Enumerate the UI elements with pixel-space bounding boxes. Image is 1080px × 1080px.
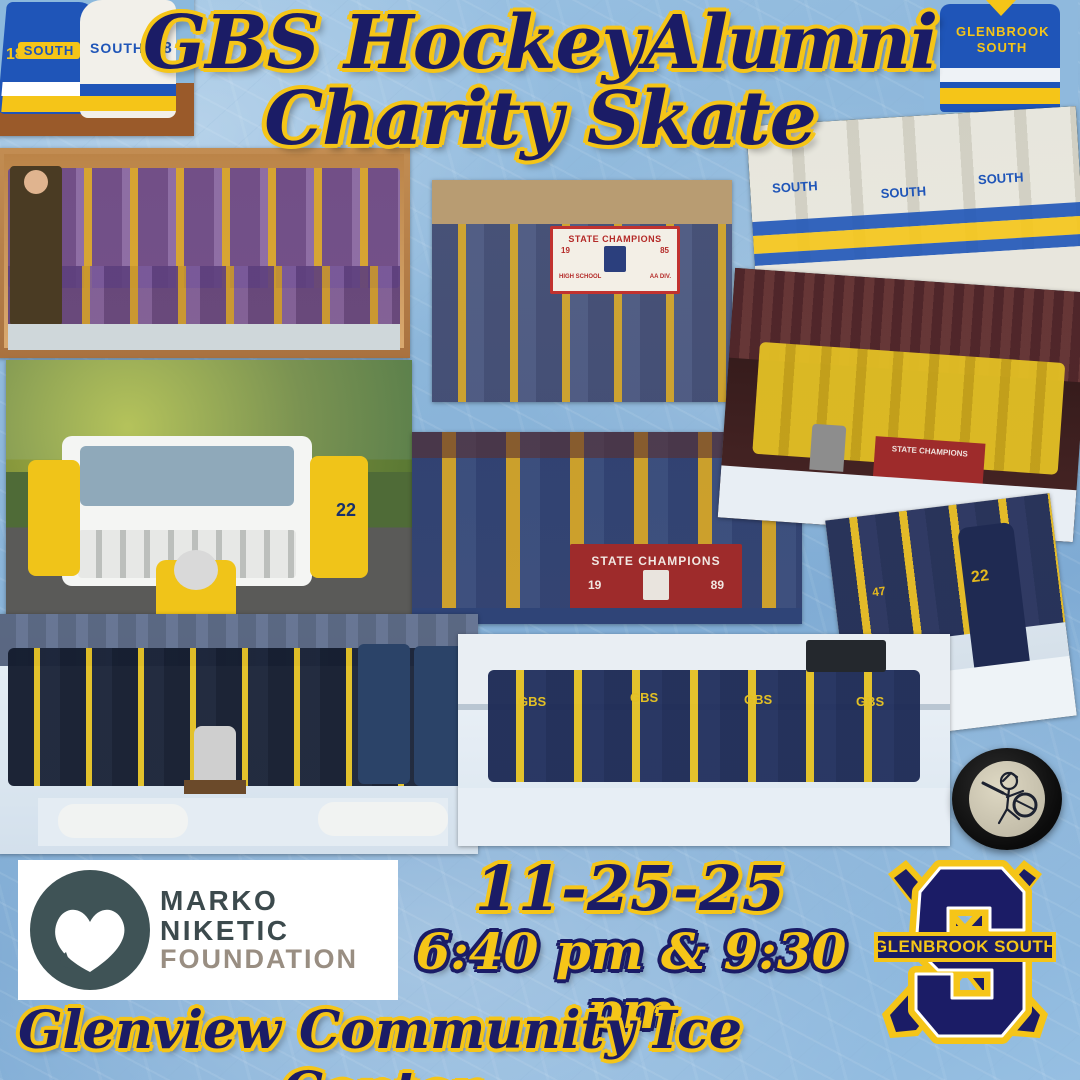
poster-canvas: SOUTH SOUTH 18 18 GLENBROOKSOUTH	[0, 0, 1080, 1080]
sponsor-name-line1: MARKO	[160, 886, 358, 916]
page-title-line2: Charity Skate	[0, 84, 1080, 155]
photo-state-champs-1985: STATE CHAMPIONS 1985 HIGH SCHOOLAA DIV.	[432, 180, 732, 402]
sponsor-name: MARKO NIKETIC FOUNDATION	[160, 886, 358, 974]
sponsor-logo-card: MARKO NIKETIC FOUNDATION	[18, 860, 398, 1000]
heart-in-circle-icon	[30, 870, 150, 990]
sponsor-name-line2: NIKETIC	[160, 916, 358, 946]
school-banner-text: GLENBROOK SOUTH	[874, 937, 1056, 956]
sponsor-name-line3: FOUNDATION	[160, 945, 358, 974]
event-venue: Glenview Community Ice Center	[0, 1000, 760, 1080]
glenbrook-south-logo: GLENBROOK SOUTH	[862, 852, 1068, 1052]
titan-mascot-icon	[969, 761, 1045, 837]
hockey-puck-mascot	[952, 748, 1062, 850]
photo-titans-trophy-team	[0, 614, 478, 854]
page-title-line1: GBS HockeyAlumni	[0, 8, 1080, 79]
photo-vintage-team-1970s	[0, 148, 410, 358]
photo-homecoming-jeep: 22	[6, 360, 412, 622]
photo-gbs-team-ice: GBS GBS GBS GBS	[458, 634, 950, 846]
event-date: 11-25-25	[400, 852, 860, 925]
school-name-banner: GLENBROOK SOUTH	[874, 934, 1056, 960]
heart-icon	[48, 894, 132, 974]
